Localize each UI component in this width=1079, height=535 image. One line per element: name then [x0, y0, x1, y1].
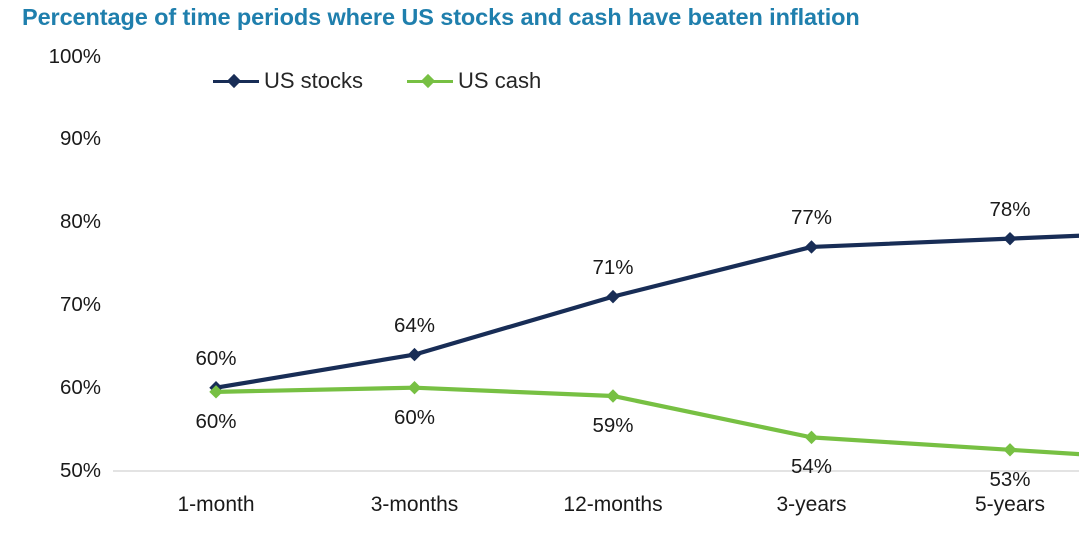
data-point-marker[interactable] — [408, 381, 421, 394]
y-axis-tick-label: 60% — [1, 378, 101, 398]
x-axis-tick-label: 12-months — [503, 494, 723, 516]
x-axis-tick-label: 5-years — [900, 494, 1079, 516]
data-label: 53% — [940, 469, 1079, 490]
y-axis-tick-label: 90% — [1, 129, 101, 149]
data-label: 64% — [345, 315, 485, 336]
line-chart: Percentage of time periods where US stoc… — [0, 0, 1079, 535]
data-label: 54% — [742, 456, 882, 477]
data-point-marker[interactable] — [1003, 232, 1016, 245]
data-label: 77% — [742, 207, 882, 228]
x-axis-tick-label: 3-months — [305, 494, 525, 516]
data-label: 60% — [345, 407, 485, 428]
data-point-marker[interactable] — [1003, 443, 1016, 456]
data-point-marker[interactable] — [805, 431, 818, 444]
data-point-marker[interactable] — [805, 240, 818, 253]
data-label: 60% — [146, 348, 286, 369]
y-axis-tick-label: 50% — [1, 461, 101, 481]
y-axis: 100%90%80%70%60%50% — [0, 0, 101, 535]
data-point-marker[interactable] — [606, 389, 619, 402]
data-label: 60% — [146, 411, 286, 432]
y-axis-tick-label: 70% — [1, 295, 101, 315]
x-axis-tick-label: 3-years — [702, 494, 922, 516]
y-axis-tick-label: 80% — [1, 212, 101, 232]
data-label: 71% — [543, 257, 683, 278]
data-label: 78% — [940, 199, 1079, 220]
data-point-marker[interactable] — [606, 290, 619, 303]
data-label: 59% — [543, 415, 683, 436]
x-axis-tick-label: 1-month — [106, 494, 326, 516]
y-axis-tick-label: 100% — [1, 47, 101, 67]
chart-title: Percentage of time periods where US stoc… — [22, 2, 1079, 32]
data-point-marker[interactable] — [408, 348, 421, 361]
